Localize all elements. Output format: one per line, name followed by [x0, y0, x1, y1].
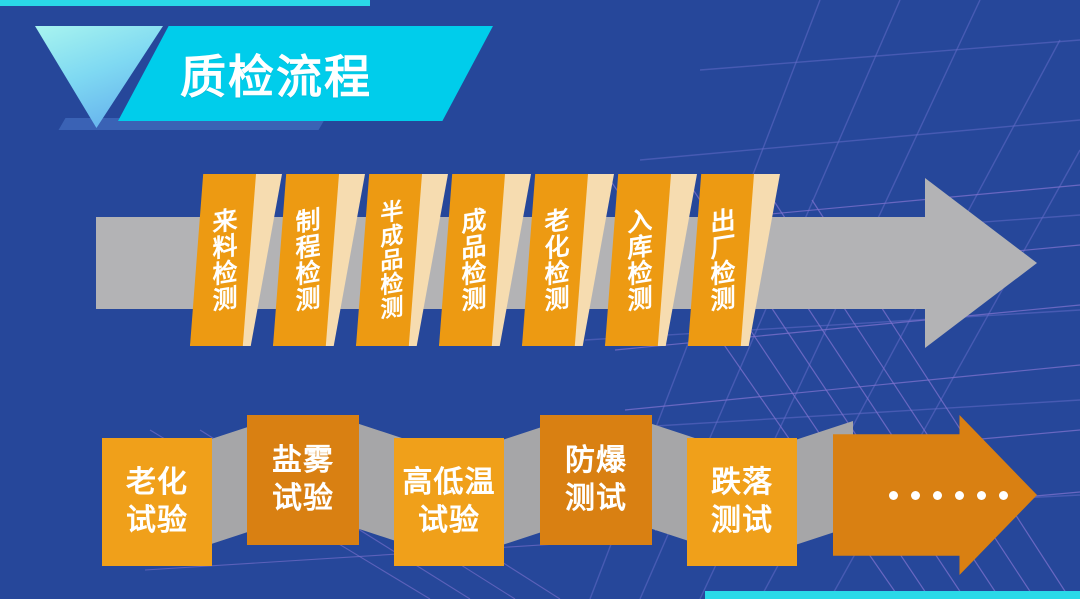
flow-step-ribbon[interactable]: 入库检测	[605, 174, 667, 346]
flow-step-ribbon[interactable]: 成品检测	[439, 174, 501, 346]
flow-step-label: 出厂检测	[708, 206, 734, 314]
flow-step-label: 来料检测	[210, 206, 236, 314]
slide-canvas: 质检流程 来料检测 制程检测 半成品检测 成品检测	[0, 0, 1080, 599]
flow-step-label: 成品检测	[459, 206, 485, 314]
test-step-line1: 盐雾	[272, 442, 334, 480]
arrow-head-icon	[925, 178, 1037, 348]
test-step-box[interactable]: 跌落 测试	[687, 438, 797, 566]
test-step-line2: 试验	[272, 480, 334, 518]
test-flow-end-arrow[interactable]	[833, 415, 1037, 575]
test-step-line2: 测试	[711, 502, 773, 540]
test-step-line1: 老化	[126, 464, 188, 502]
flow-step-ribbon[interactable]: 半成品检测	[356, 174, 418, 346]
flow-step-ribbon[interactable]: 出厂检测	[688, 174, 750, 346]
flow-step-ribbon[interactable]: 来料检测	[190, 174, 252, 346]
test-step-box[interactable]: 防爆 测试	[540, 415, 652, 545]
test-step-line2: 试验	[126, 502, 188, 540]
test-step-line2: 试验	[403, 502, 496, 540]
flow-step-label: 老化检测	[542, 206, 568, 314]
test-flow-row: 老化 试验 盐雾 试验 高低温 试验 防爆 测试 跌落	[0, 395, 1080, 599]
flow-step-ribbon[interactable]: 老化检测	[522, 174, 584, 346]
test-step-label-group: 跌落 测试	[711, 464, 773, 541]
flow-step-label: 制程检测	[293, 206, 319, 314]
banner-body: 质检流程	[118, 26, 493, 121]
test-step-box[interactable]: 盐雾 试验	[247, 415, 359, 545]
page-title: 质检流程	[180, 41, 372, 107]
test-step-box[interactable]: 高低温 试验	[394, 438, 504, 566]
flow-step-ribbon[interactable]: 制程检测	[273, 174, 335, 346]
test-step-box[interactable]: 老化 试验	[102, 438, 212, 566]
ellipsis-dots-icon	[889, 491, 1008, 500]
test-step-line1: 高低温	[403, 464, 496, 502]
test-step-line2: 测试	[565, 480, 627, 518]
flow-step-label: 半成品检测	[377, 198, 401, 322]
test-step-label-group: 盐雾 试验	[272, 442, 334, 519]
test-step-label-group: 高低温 试验	[403, 464, 496, 541]
test-step-line1: 跌落	[711, 464, 773, 502]
flow-step-label: 入库检测	[625, 206, 651, 314]
test-step-label-group: 防爆 测试	[565, 442, 627, 519]
test-step-line1: 防爆	[565, 442, 627, 480]
title-banner: 质检流程	[0, 0, 540, 160]
test-step-label-group: 老化 试验	[126, 464, 188, 541]
inspection-flow-arrow: 来料检测 制程检测 半成品检测 成品检测 老化检测	[0, 160, 1080, 370]
